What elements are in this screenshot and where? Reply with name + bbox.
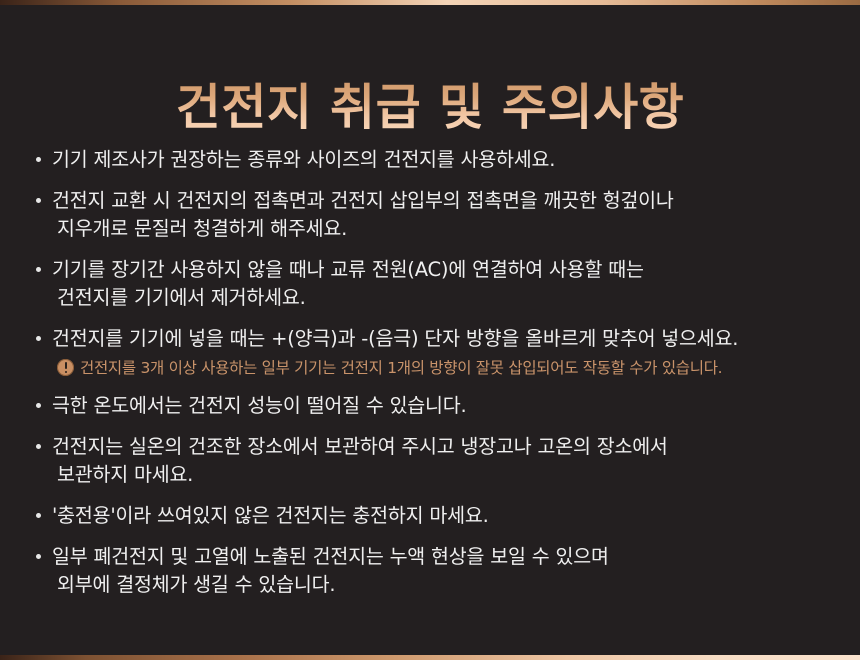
precaution-item: 일부 폐건전지 및 고열에 노출된 건전지는 누액 현상을 보일 수 있으며외부…	[34, 543, 834, 599]
bullet-icon	[36, 513, 41, 518]
precaution-item: '충전용'이라 쓰여있지 않은 건전지는 충전하지 마세요.	[34, 502, 834, 530]
battery-precautions-page: 건전지 취급 및 주의사항 기기 제조사가 권장하는 종류와 사이즈의 건전지를…	[0, 0, 860, 660]
precaution-item: 건전지 교환 시 건전지의 접촉면과 건전지 삽입부의 접촉면을 깨끗한 헝겊이…	[34, 187, 834, 243]
page-title: 건전지 취급 및 주의사항	[176, 81, 684, 135]
precaution-line: 지우개로 문질러 청결하게 해주세요.	[52, 215, 834, 243]
precaution-line: 건전지를 기기에서 제거하세요.	[52, 284, 834, 312]
precaution-line: 건전지는 실온의 건조한 장소에서 보관하여 주시고 냉장고나 고온의 장소에서	[52, 433, 834, 461]
bullet-icon	[36, 554, 41, 559]
precaution-line: 일부 폐건전지 및 고열에 노출된 건전지는 누액 현상을 보일 수 있으며	[52, 543, 834, 571]
bullet-icon	[36, 267, 41, 272]
inline-warning-note: 건전지를 3개 이상 사용하는 일부 기기는 건전지 1개의 방향이 잘못 삽입…	[52, 357, 834, 379]
bullet-icon	[36, 444, 41, 449]
bullet-icon	[36, 157, 41, 162]
bullet-icon	[36, 403, 41, 408]
precaution-item: 극한 온도에서는 건전지 성능이 떨어질 수 있습니다.	[34, 392, 834, 420]
precaution-line: '충전용'이라 쓰여있지 않은 건전지는 충전하지 마세요.	[52, 502, 834, 530]
precautions-list: 기기 제조사가 권장하는 종류와 사이즈의 건전지를 사용하세요.건전지 교환 …	[34, 146, 834, 599]
precaution-item: 건전지는 실온의 건조한 장소에서 보관하여 주시고 냉장고나 고온의 장소에서…	[34, 433, 834, 489]
precaution-item: 기기 제조사가 권장하는 종류와 사이즈의 건전지를 사용하세요.	[34, 146, 834, 174]
precaution-line: 기기 제조사가 권장하는 종류와 사이즈의 건전지를 사용하세요.	[52, 146, 834, 174]
precaution-line: 극한 온도에서는 건전지 성능이 떨어질 수 있습니다.	[52, 392, 834, 420]
precaution-line: 보관하지 마세요.	[52, 461, 834, 489]
precaution-line: 기기를 장기간 사용하지 않을 때나 교류 전원(AC)에 연결하여 사용할 때…	[52, 256, 834, 284]
bottom-gradient-rule	[0, 655, 860, 660]
top-gradient-rule	[0, 0, 860, 5]
bullet-icon	[36, 336, 41, 341]
precaution-item: 기기를 장기간 사용하지 않을 때나 교류 전원(AC)에 연결하여 사용할 때…	[34, 256, 834, 312]
exclamation-circle-icon	[57, 359, 74, 376]
bullet-icon	[36, 198, 41, 203]
warning-note-text: 건전지를 3개 이상 사용하는 일부 기기는 건전지 1개의 방향이 잘못 삽입…	[80, 357, 722, 379]
precaution-line: 외부에 결정체가 생길 수 있습니다.	[52, 571, 834, 599]
precaution-line: 건전지를 기기에 넣을 때는 +(양극)과 -(음극) 단자 방향을 올바르게 …	[52, 325, 834, 353]
precaution-line: 건전지 교환 시 건전지의 접촉면과 건전지 삽입부의 접촉면을 깨끗한 헝겊이…	[52, 187, 834, 215]
precaution-item: 건전지를 기기에 넣을 때는 +(양극)과 -(음극) 단자 방향을 올바르게 …	[34, 325, 834, 379]
